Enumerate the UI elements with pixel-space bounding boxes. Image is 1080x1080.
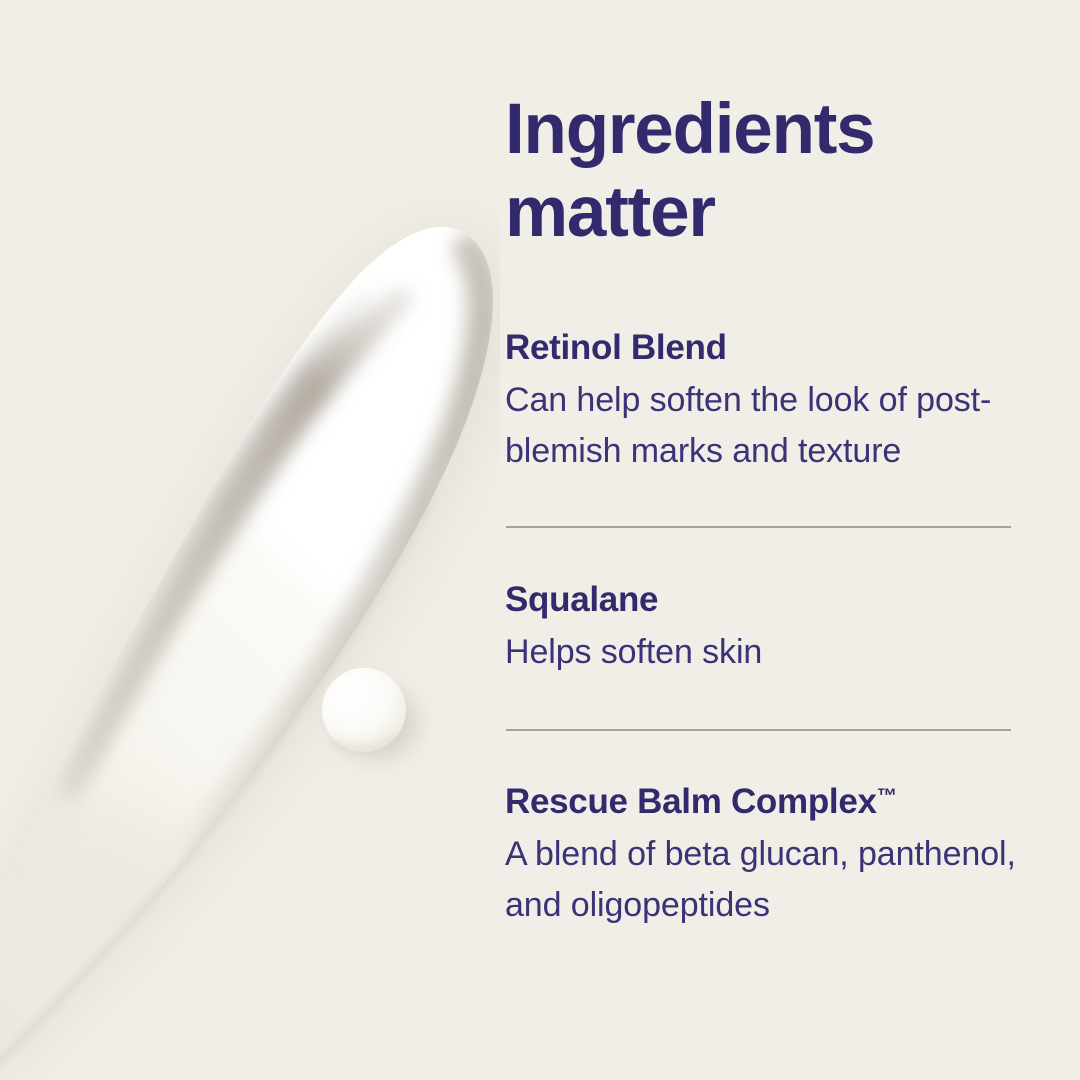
- ingredients-text-column: Ingredients matter Retinol Blend Can hel…: [505, 0, 1025, 1080]
- ingredient-item-rescue-balm-complex: Rescue Balm Complex™ A blend of beta glu…: [505, 781, 1025, 931]
- ingredient-item-retinol-blend: Retinol Blend Can help soften the look o…: [505, 327, 1025, 477]
- ingredient-name: Retinol Blend: [505, 327, 1025, 369]
- cream-swatch-graphic: [0, 0, 500, 1080]
- ingredient-name-text: Retinol Blend: [505, 328, 727, 367]
- cream-droplet: [322, 668, 428, 768]
- ingredient-name-text: Squalane: [505, 580, 658, 619]
- trademark-symbol: ™: [877, 785, 897, 807]
- ingredient-description: Can help soften the look of post-blemish…: [505, 375, 1025, 477]
- ingredient-item-squalane: Squalane Helps soften skin: [505, 579, 1025, 678]
- ingredient-name-text: Rescue Balm Complex: [505, 782, 877, 821]
- ingredient-description: Helps soften skin: [505, 627, 1025, 678]
- section-divider: [506, 729, 1011, 731]
- product-ingredients-panel: Ingredients matter Retinol Blend Can hel…: [0, 0, 1080, 1080]
- page-title: Ingredients matter: [505, 88, 1025, 254]
- section-divider: [506, 526, 1011, 528]
- ingredient-name: Rescue Balm Complex™: [505, 781, 1025, 823]
- cream-swatch-image: [0, 0, 500, 1080]
- swatch-lower-falloff: [0, 790, 260, 1080]
- ingredient-name: Squalane: [505, 579, 1025, 621]
- ingredient-description: A blend of beta glucan, panthenol, and o…: [505, 829, 1025, 931]
